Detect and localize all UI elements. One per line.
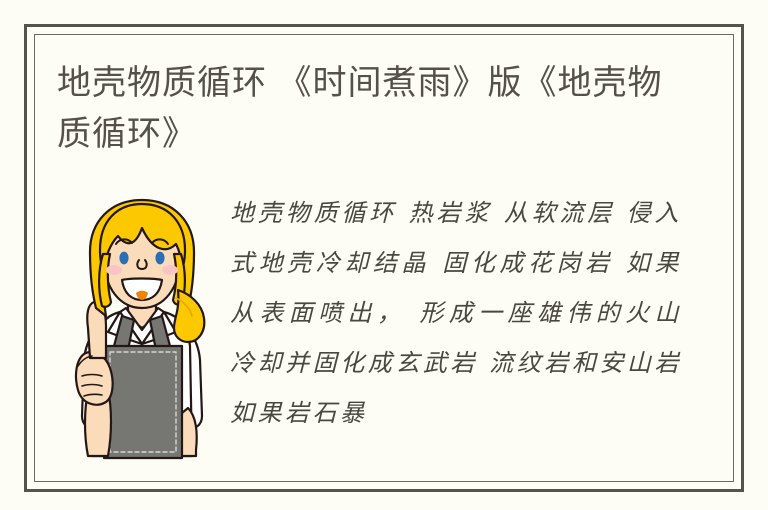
cartoon-girl-pointing-up-illustration bbox=[62, 194, 222, 464]
page-title: 地壳物质循环 《时间煮雨》版《地壳物质循环》 bbox=[57, 58, 697, 160]
article-body-text: 地壳物质循环 热岩浆 从软流层 侵入式地壳冷却结晶 固化成花岗岩 如果从表面喷出… bbox=[230, 188, 682, 438]
cheek-right bbox=[162, 265, 178, 275]
article-body-area: 地壳物质循环 热岩浆 从软流层 侵入式地壳冷却结晶 固化成花岗岩 如果从表面喷出… bbox=[34, 182, 734, 482]
eye-right bbox=[155, 252, 164, 265]
cheek-left bbox=[106, 265, 122, 275]
ponytail bbox=[174, 290, 204, 342]
article-content: 地壳物质循环 《时间煮雨》版《地壳物质循环》 bbox=[34, 34, 734, 482]
eye-left bbox=[119, 252, 128, 265]
apron-bib bbox=[104, 346, 182, 458]
article-page: 地壳物质循环 《时间煮雨》版《地壳物质循环》 bbox=[0, 0, 768, 510]
